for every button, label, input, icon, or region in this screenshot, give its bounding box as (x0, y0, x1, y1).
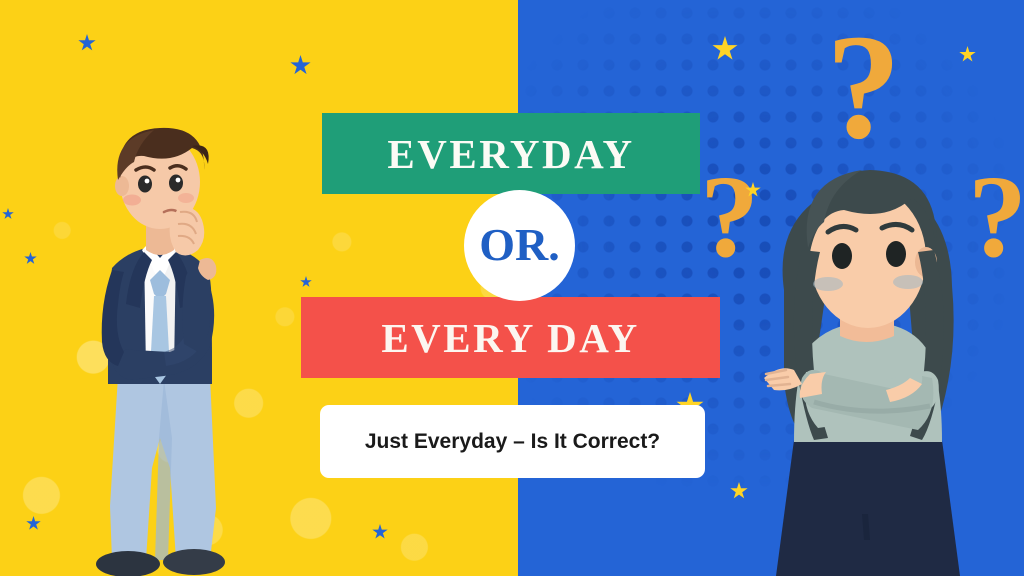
caption-box[interactable]: Just Everyday – Is It Correct? (320, 405, 705, 478)
banner-everyday-label: EVERYDAY (387, 130, 634, 178)
confused-woman-illustration (736, 140, 996, 576)
banner-everyday[interactable]: EVERYDAY (322, 113, 700, 194)
or-badge: OR. (464, 190, 575, 301)
banner-every-day-label: EVERY DAY (381, 314, 639, 362)
or-badge-label: OR. (479, 218, 560, 271)
caption-text: Just Everyday – Is It Correct? (365, 430, 660, 454)
thinking-boy-illustration (60, 108, 260, 576)
banner-every-day[interactable]: EVERY DAY (301, 297, 720, 378)
poster-canvas: ? ? ? (0, 0, 1024, 576)
